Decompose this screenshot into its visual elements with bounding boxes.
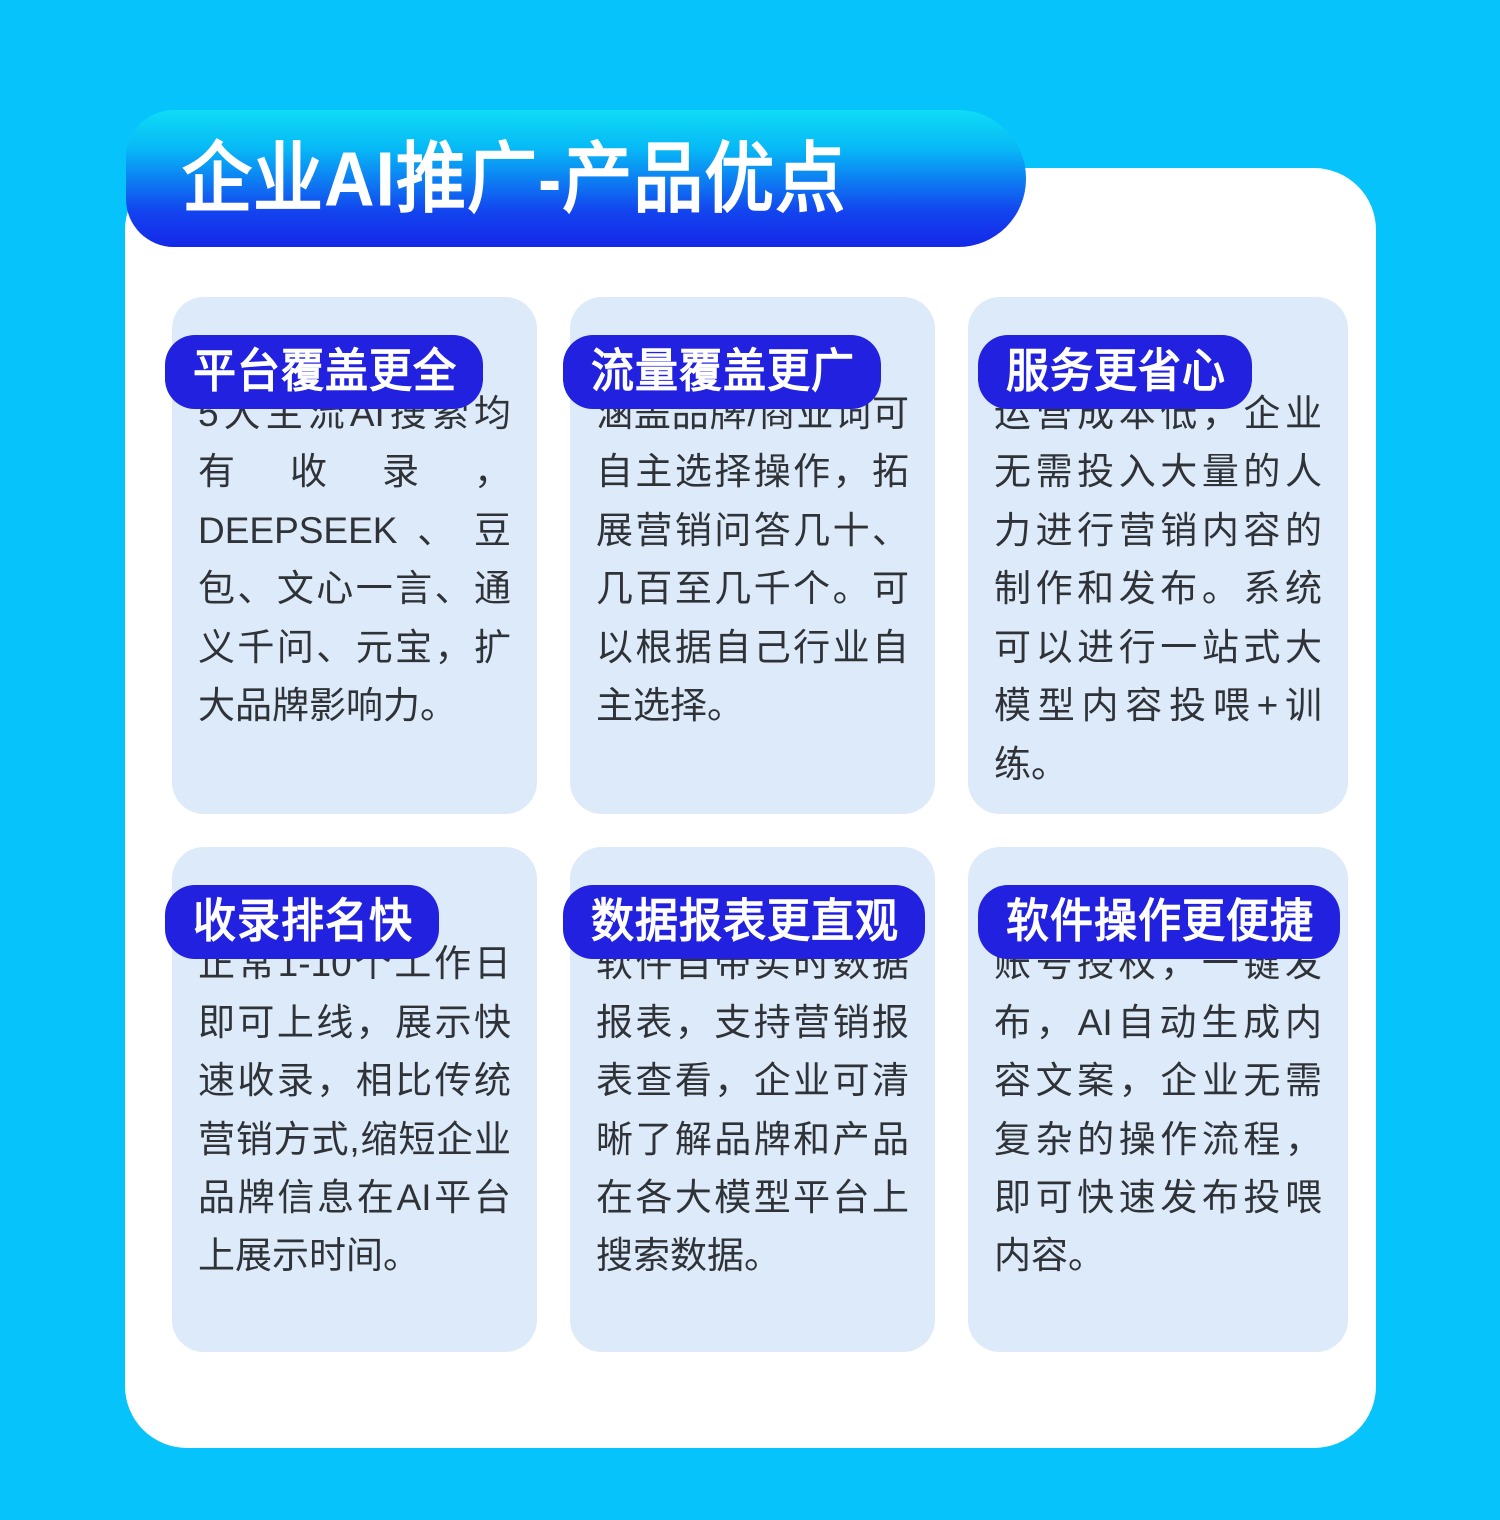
feature-badge-2: 流量覆盖更广 (563, 335, 881, 409)
feature-badge-label: 平台覆盖更全 (193, 349, 457, 395)
feature-badge-5: 数据报表更直观 (563, 885, 925, 959)
feature-badge-4: 收录排名快 (165, 885, 439, 959)
feature-card-2: 流量覆盖更广 涵盖品牌/商业词可自主选择操作，拓展营销问答几十、几百至几千个。可… (570, 297, 935, 814)
feature-badge-label: 流量覆盖更广 (591, 349, 855, 395)
feature-body-4: 正常1-10个工作日即可上线，展示快速收录，相比传统营销方式,缩短企业品牌信息在… (198, 935, 511, 1286)
feature-badge-label: 服务更省心 (1006, 349, 1226, 395)
feature-badge-6: 软件操作更便捷 (978, 885, 1340, 959)
feature-body-2: 涵盖品牌/商业词可自主选择操作，拓展营销问答几十、几百至几千个。可以根据自己行业… (596, 385, 909, 736)
feature-card-1: 平台覆盖更全 5大主流AI搜索均有收录，DEEPSEEK、豆包、文心一言、通义千… (172, 297, 537, 814)
feature-body-5: 软件自带实时数据报表，支持营销报表查看，企业可清晰了解品牌和产品在各大模型平台上… (596, 935, 909, 1286)
feature-badge-label: 收录排名快 (193, 899, 413, 945)
feature-card-4: 收录排名快 正常1-10个工作日即可上线，展示快速收录，相比传统营销方式,缩短企… (172, 847, 537, 1352)
feature-body-3: 运营成本低，企业无需投入大量的人力进行营销内容的制作和发布。系统可以进行一站式大… (994, 385, 1322, 794)
feature-badge-label: 数据报表更直观 (591, 899, 899, 945)
feature-badge-label: 软件操作更便捷 (1006, 899, 1314, 945)
page-title: 企业AI推广-产品优点 (182, 140, 846, 217)
feature-badge-3: 服务更省心 (978, 335, 1252, 409)
title-banner: 企业AI推广-产品优点 (126, 110, 1026, 247)
feature-card-grid: 平台覆盖更全 5大主流AI搜索均有收录，DEEPSEEK、豆包、文心一言、通义千… (172, 297, 1345, 1352)
feature-badge-1: 平台覆盖更全 (165, 335, 483, 409)
feature-body-1: 5大主流AI搜索均有收录，DEEPSEEK、豆包、文心一言、通义千问、元宝，扩大… (198, 385, 511, 736)
feature-card-6: 软件操作更便捷 账号授权，一键发布，AI自动生成内容文案，企业无需复杂的操作流程… (968, 847, 1348, 1352)
feature-card-3: 服务更省心 运营成本低，企业无需投入大量的人力进行营销内容的制作和发布。系统可以… (968, 297, 1348, 814)
feature-body-6: 账号授权，一键发布，AI自动生成内容文案，企业无需复杂的操作流程，即可快速发布投… (994, 935, 1322, 1286)
feature-card-5: 数据报表更直观 软件自带实时数据报表，支持营销报表查看，企业可清晰了解品牌和产品… (570, 847, 935, 1352)
